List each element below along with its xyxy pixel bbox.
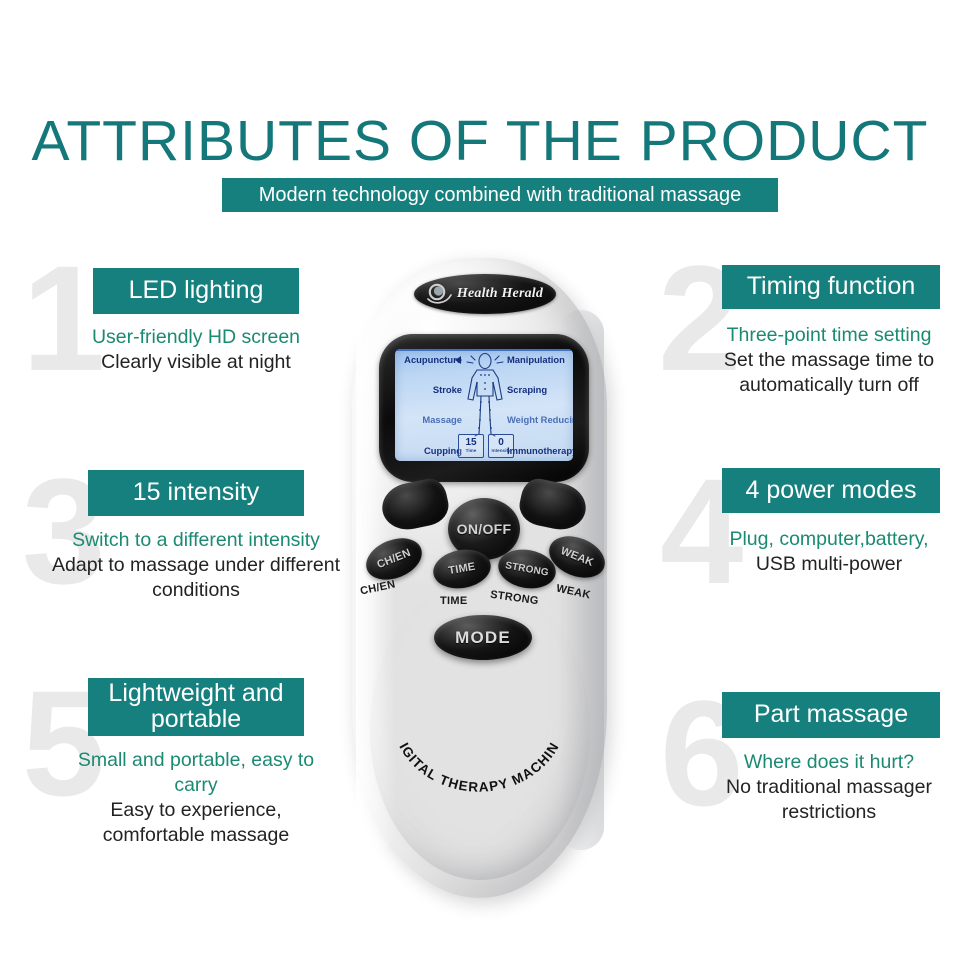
weak-button-label: WEAK: [559, 545, 595, 569]
feature-title-text-4: 4 power modes: [746, 478, 917, 504]
feature-line-a-6: Where does it hurt?: [700, 750, 958, 775]
feature-line-b-5: Easy to experience, comfortable massage: [60, 798, 332, 848]
device-bottom-text: DIGITAL THERAPY MACHINE: [372, 730, 592, 820]
infographic-page: ATTRIBUTES OF THE PRODUCT Modern technol…: [0, 0, 960, 960]
feature-body-5: Small and portable, easy to carry Easy t…: [60, 748, 332, 848]
feature-body-1: User-friendly HD screen Clearly visible …: [60, 325, 332, 375]
feature-line-a-1: User-friendly HD screen: [60, 325, 332, 350]
lcd-mode-manipulation: Manipulation: [507, 355, 565, 364]
lcd-time-readout: 15 Time: [458, 434, 484, 458]
feature-line-b-4: USB multi-power: [700, 552, 958, 577]
feature-body-3: Switch to a different intensity Adapt to…: [48, 528, 344, 603]
feature-line-b-3: Adapt to massage under different conditi…: [48, 553, 344, 603]
feature-title-6: Part massage: [722, 692, 940, 738]
lcd-screen: Acupuncture Stroke Massage Cupping: [395, 349, 573, 461]
power-button-label: ON/OFF: [457, 521, 512, 537]
lcd-right-mode-column: Manipulation Scraping Weight Reducing Im…: [507, 355, 569, 455]
feature-line-a-4: Plug, computer,battery,: [700, 527, 958, 552]
feature-body-2: Three-point time setting Set the massage…: [698, 323, 960, 398]
feature-line-b-1: Clearly visible at night: [60, 350, 332, 375]
strong-button-label: STRONG: [504, 560, 549, 578]
feature-title-4: 4 power modes: [722, 468, 940, 513]
lcd-mode-immunotherapy: Immunotherapy: [507, 446, 573, 455]
time-button-label: TIME: [448, 561, 477, 578]
lcd-mode-scraping: Scraping: [507, 385, 547, 394]
feature-title-text-1: LED lighting: [129, 278, 264, 304]
feature-line-a-2: Three-point time setting: [698, 323, 960, 348]
feature-line-b-6: No traditional massager restrictions: [700, 775, 958, 825]
lcd-mode-acupuncture: Acupuncture: [404, 355, 462, 364]
svg-text:DIGITAL THERAPY MACHINE: DIGITAL THERAPY MACHINE: [372, 730, 562, 795]
feature-body-4: Plug, computer,battery, USB multi-power: [700, 527, 958, 577]
feature-title-2: Timing function: [722, 265, 940, 309]
lcd-top-border: [395, 349, 573, 351]
lcd-mode-cupping: Cupping: [424, 446, 462, 455]
feature-title-5: Lightweight and portable: [88, 678, 304, 736]
lcd-time-label: Time: [466, 449, 477, 454]
page-title: ATTRIBUTES OF THE PRODUCT: [0, 108, 960, 174]
feature-title-3: 15 intensity: [88, 470, 304, 516]
subtitle-text: Modern technology combined with traditio…: [259, 184, 742, 207]
brand-logo-icon: [427, 282, 453, 306]
chen-button-label: CH/EN: [375, 547, 412, 571]
feature-title-1: LED lighting: [93, 268, 299, 314]
product-device-image: Health Herald Acupuncture Stroke Massage…: [330, 250, 630, 900]
mode-button-label: MODE: [455, 628, 511, 648]
feature-title-text-6: Part massage: [754, 702, 908, 728]
feature-body-6: Where does it hurt? No traditional massa…: [700, 750, 958, 825]
brand-name: Health Herald: [457, 286, 543, 302]
feature-line-a-5: Small and portable, easy to carry: [60, 748, 332, 798]
lcd-intensity-value: 0: [498, 438, 504, 448]
lcd-mode-weight-reducing: Weight Reducing: [507, 415, 573, 424]
time-button-caption: TIME: [440, 595, 467, 607]
feature-title-text-3: 15 intensity: [133, 480, 259, 506]
subtitle-banner: Modern technology combined with traditio…: [222, 178, 778, 212]
brand-badge: Health Herald: [414, 274, 556, 314]
lcd-body-figure-icon: [457, 352, 513, 438]
feature-title-text-5: Lightweight and portable: [98, 681, 294, 733]
lcd-left-mode-column: Acupuncture Stroke Massage Cupping: [400, 355, 462, 455]
lcd-readout-group: 15 Time 0 Intensity: [458, 434, 514, 458]
feature-title-text-2: Timing function: [747, 274, 916, 300]
feature-line-b-2: Set the massage time to automatically tu…: [698, 348, 960, 398]
mode-button[interactable]: MODE: [434, 615, 532, 660]
lcd-time-value: 15: [465, 438, 476, 448]
feature-line-a-3: Switch to a different intensity: [48, 528, 344, 553]
